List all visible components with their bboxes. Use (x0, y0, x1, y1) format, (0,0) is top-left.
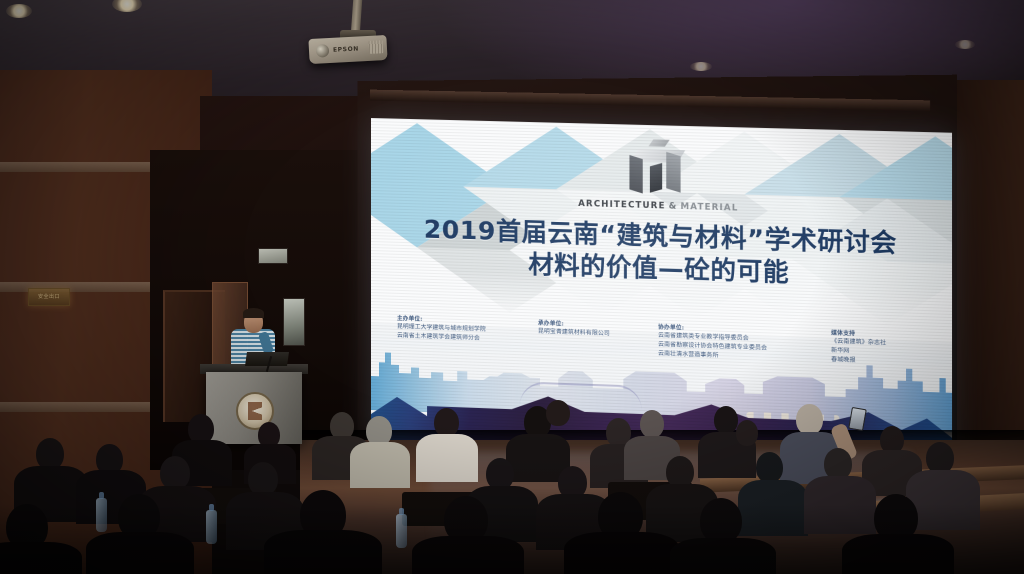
audience-head (546, 400, 570, 426)
audience-torso (350, 442, 410, 488)
logo-text-ampersand: & (669, 201, 678, 211)
credit-column-undertaker: 承办单位: 昆明宝青建筑材料有限公司 (538, 320, 610, 340)
audience (0, 400, 1024, 574)
credit-column-organizer: 主办单位: 昆明理工大学建筑与城市规划学院 云南省土木建筑学会建筑师分会 (397, 315, 486, 344)
exit-sign: 安全出口 (28, 288, 70, 306)
ceiling-light (690, 62, 712, 71)
water-bottle (206, 510, 217, 544)
water-bottle (96, 498, 107, 532)
door-window (283, 298, 305, 346)
logo-text-material: MATERIAL (680, 202, 738, 214)
conference-hall-photo: 安全出口 EPSON (0, 0, 1024, 574)
audience-head (640, 410, 664, 438)
audience-torso (416, 434, 478, 482)
credit-line: 昆明宝青建筑材料有限公司 (538, 328, 610, 340)
water-bottle (396, 514, 407, 548)
audience-head (248, 462, 278, 496)
audience-torso (738, 480, 808, 536)
audience-torso (86, 532, 194, 574)
audience-head (736, 420, 758, 446)
credit-line: 春城晚报 (831, 356, 886, 367)
audience-head (756, 452, 783, 483)
audience-torso (564, 532, 680, 574)
wall-light-panel (258, 248, 288, 264)
projector-vent (369, 40, 384, 54)
audience-phone (848, 407, 867, 431)
speaker-hair (243, 308, 264, 318)
projector-brand-label: EPSON (333, 45, 359, 53)
audience-torso (842, 534, 954, 574)
projector-lens-icon (316, 44, 330, 58)
audience-head (434, 408, 459, 437)
ceiling-light (6, 4, 32, 18)
ceiling-projector: EPSON (308, 35, 387, 64)
audience-torso (804, 476, 876, 534)
credit-column-media-support: 媒体支持 《云南建筑》杂志社 新华网 春城晚报 (831, 329, 886, 367)
audience-torso (670, 538, 776, 574)
audience-head (796, 404, 823, 435)
audience-head (160, 456, 190, 490)
credit-column-co-organizer: 协办单位: 云南省建筑类专业教学指导委员会 云南省勘察设计协会特色建筑专业委员会… (658, 324, 767, 363)
audience-torso (264, 530, 382, 574)
credit-line: 云南省土木建筑学会建筑师分会 (397, 332, 486, 344)
audience-head (714, 406, 738, 434)
exit-sign-label: 安全出口 (29, 289, 69, 305)
audience-torso (0, 542, 82, 574)
audience-torso (412, 536, 524, 574)
ceiling-light (955, 40, 975, 49)
architecture-material-monogram-icon (625, 147, 690, 195)
